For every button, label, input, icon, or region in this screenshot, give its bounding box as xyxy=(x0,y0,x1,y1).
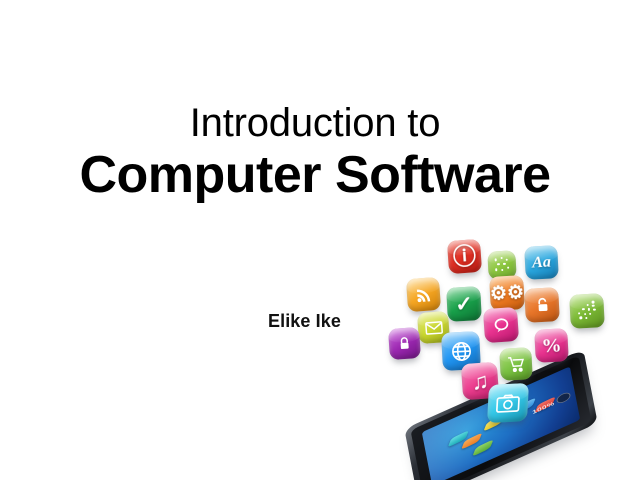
presentation-slide: Introduction to Computer Software Elike … xyxy=(0,0,640,480)
unlock-icon xyxy=(524,287,560,323)
speech-bubble-glyph xyxy=(491,315,511,335)
slide-title: Introduction to Computer Software xyxy=(40,100,590,204)
scatter-dots-glyph xyxy=(576,300,598,322)
shopping-cart-icon xyxy=(499,347,533,381)
percent-icon: % xyxy=(534,328,569,363)
tablet-home-button[interactable] xyxy=(556,391,571,405)
sparkle-dots xyxy=(493,256,511,274)
camera-glyph xyxy=(496,393,521,413)
mail-glyph xyxy=(424,320,443,335)
checkmark-icon: ✓ xyxy=(446,286,482,322)
globe-glyph xyxy=(449,339,473,363)
text-format-icon: Aa xyxy=(524,245,559,280)
camera-icon xyxy=(487,383,529,423)
padlock-glyph xyxy=(395,334,413,352)
speech-bubble-icon xyxy=(483,307,519,343)
rss-glyph xyxy=(414,285,433,304)
unlock-glyph xyxy=(532,295,552,315)
settings-gears-icon: ⚙⚙ xyxy=(489,275,525,311)
title-line-1: Introduction to xyxy=(40,100,590,146)
author-name: Elike Ike xyxy=(268,311,341,332)
scatter-dots-icon xyxy=(569,293,605,329)
info-icon: ⓘ xyxy=(447,239,482,274)
cart-glyph xyxy=(506,355,526,373)
rss-feed-icon xyxy=(406,277,441,312)
artwork-tablet-apps: 100% ⓘ Aa ⚙⚙ xyxy=(385,232,640,464)
title-line-2: Computer Software xyxy=(40,146,590,204)
padlock-icon xyxy=(388,327,421,360)
